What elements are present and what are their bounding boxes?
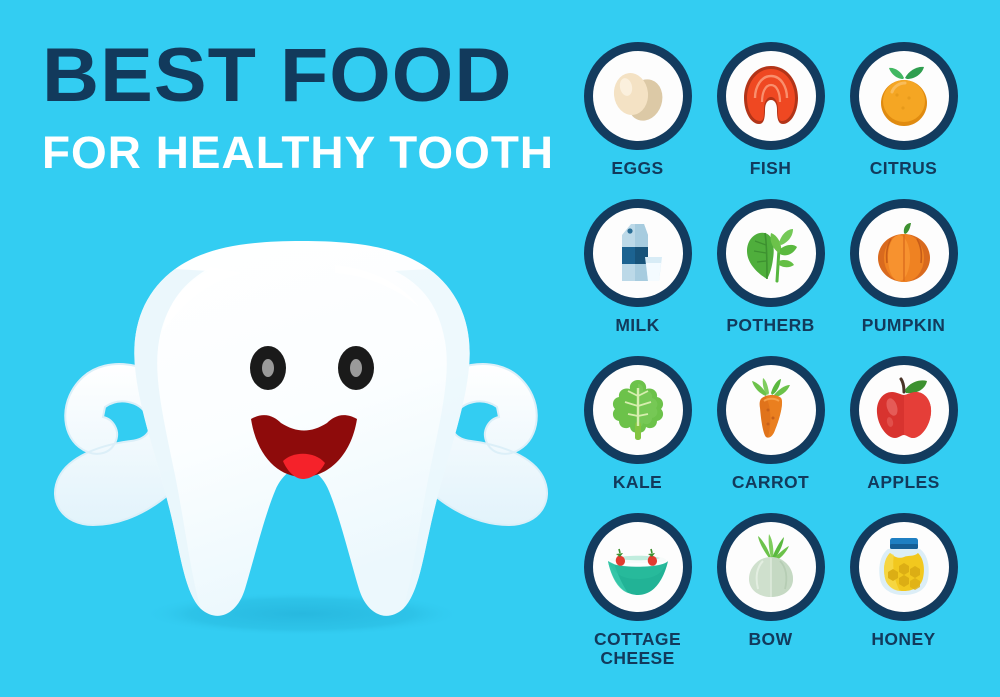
fish-icon <box>737 62 805 130</box>
icon-disc-face <box>859 208 949 298</box>
icon-disc <box>717 42 825 150</box>
icon-disc-face <box>726 365 816 455</box>
honey-jar-icon <box>870 533 938 601</box>
food-item-label: APPLES <box>867 473 939 492</box>
apple-icon <box>870 376 938 444</box>
potherb-icon <box>737 219 805 287</box>
icon-disc-face <box>726 51 816 141</box>
food-item-label: PUMPKIN <box>862 316 946 335</box>
food-item-label: MILK <box>615 316 659 335</box>
food-item-label: COTTAGE CHEESE <box>594 630 681 668</box>
food-item-label: FISH <box>750 159 791 178</box>
headline-block: BEST FOOD FOR HEALTHY TOOTH <box>42 38 562 176</box>
food-item-label: CARROT <box>732 473 809 492</box>
icon-disc-face <box>593 51 683 141</box>
infographic-poster: BEST FOOD FOR HEALTHY TOOTH <box>0 0 1000 697</box>
food-item-carrot[interactable]: CARROT <box>704 356 837 513</box>
food-item-fish[interactable]: FISH <box>704 42 837 199</box>
carrot-icon <box>737 376 805 444</box>
food-item-label: CITRUS <box>870 159 938 178</box>
icon-disc <box>850 356 958 464</box>
page-title: BEST FOOD <box>42 38 583 114</box>
tooth-mascot <box>35 225 565 645</box>
icon-disc-face <box>726 208 816 298</box>
mascot-right-eye-highlight <box>350 359 362 377</box>
icon-disc <box>850 42 958 150</box>
food-item-potherb[interactable]: POTHERB <box>704 199 837 356</box>
food-item-eggs[interactable]: EGGS <box>571 42 704 199</box>
icon-disc-face <box>593 365 683 455</box>
page-subtitle: FOR HEALTHY TOOTH <box>42 130 572 176</box>
icon-disc-face <box>726 522 816 612</box>
icon-disc-face <box>859 522 949 612</box>
food-item-cottage-cheese[interactable]: COTTAGE CHEESE <box>571 513 704 670</box>
food-item-bow[interactable]: BOW <box>704 513 837 670</box>
icon-disc <box>584 356 692 464</box>
icon-disc <box>584 42 692 150</box>
icon-disc <box>584 513 692 621</box>
food-item-label: KALE <box>613 473 662 492</box>
tooth-mascot-illustration <box>35 225 565 645</box>
food-item-citrus[interactable]: CITRUS <box>837 42 970 199</box>
food-item-label: BOW <box>749 630 793 649</box>
mascot-shadow <box>142 592 462 636</box>
citrus-icon <box>870 62 938 130</box>
icon-disc-face <box>859 51 949 141</box>
milk-icon <box>604 219 672 287</box>
food-item-milk[interactable]: MILK <box>571 199 704 356</box>
food-item-honey[interactable]: HONEY <box>837 513 970 670</box>
icon-disc-face <box>859 365 949 455</box>
icon-disc <box>584 199 692 307</box>
food-icon-grid: EGGS FISH <box>571 42 971 670</box>
icon-disc <box>717 356 825 464</box>
food-item-kale[interactable]: KALE <box>571 356 704 513</box>
mascot-left-eye-highlight <box>262 359 274 377</box>
kale-icon <box>604 376 672 444</box>
icon-disc-face <box>593 208 683 298</box>
icon-disc <box>717 199 825 307</box>
cottage-cheese-icon <box>602 531 674 603</box>
icon-disc <box>717 513 825 621</box>
food-item-apples[interactable]: APPLES <box>837 356 970 513</box>
icon-disc-face <box>593 522 683 612</box>
icon-disc <box>850 199 958 307</box>
food-item-label: POTHERB <box>726 316 814 335</box>
food-item-label: EGGS <box>611 159 663 178</box>
eggs-icon <box>604 62 672 130</box>
onion-icon <box>737 533 805 601</box>
icon-disc <box>850 513 958 621</box>
pumpkin-icon <box>870 219 938 287</box>
food-item-label: HONEY <box>871 630 935 649</box>
food-item-pumpkin[interactable]: PUMPKIN <box>837 199 970 356</box>
